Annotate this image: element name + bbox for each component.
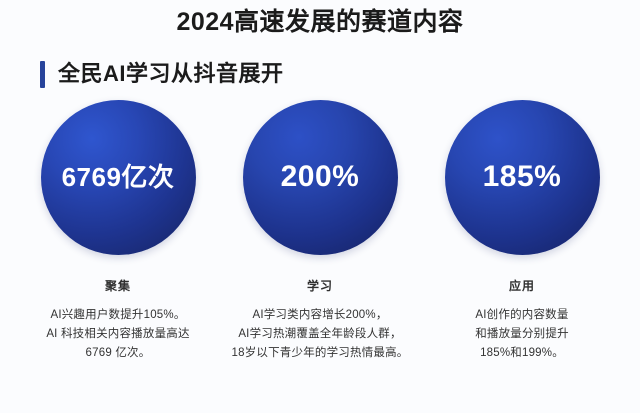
stat-label: 应用 [509,277,535,294]
stat-card-application: 185% 应用 AI创作的内容数量 和播放量分别提升 185%和199%。 [422,100,622,363]
stat-bubble-icon: 6769亿次 [41,100,196,255]
stat-description: AI创作的内容数量 和播放量分别提升 185%和199%。 [475,306,569,363]
stat-value: 200% [281,162,360,192]
stat-card-learning: 200% 学习 AI学习类内容增长200%， AI学习热潮覆盖全年龄段人群， 1… [220,100,420,363]
subtitle-row: 全民AI学习从抖音展开 [0,61,640,88]
accent-bar-icon [40,61,45,88]
stats-row: 6769亿次 聚集 AI兴趣用户数提升105%。 AI 科技相关内容播放量高达 … [0,100,640,363]
stat-bubble-icon: 200% [243,100,398,255]
stat-card-aggregate: 6769亿次 聚集 AI兴趣用户数提升105%。 AI 科技相关内容播放量高达 … [18,100,218,363]
page-title: 2024高速发展的赛道内容 [176,9,463,37]
stat-description: AI兴趣用户数提升105%。 AI 科技相关内容播放量高达 6769 亿次。 [46,306,189,363]
stat-value: 185% [483,162,562,192]
stat-label: 聚集 [105,277,131,294]
title-row: 2024高速发展的赛道内容 [0,0,640,37]
stat-description: AI学习类内容增长200%， AI学习热潮覆盖全年龄段人群， 18岁以下青少年的… [232,306,409,363]
stat-label: 学习 [307,277,333,294]
section-subtitle: 全民AI学习从抖音展开 [58,62,284,86]
stat-value: 6769亿次 [62,164,175,190]
stat-bubble-icon: 185% [445,100,600,255]
